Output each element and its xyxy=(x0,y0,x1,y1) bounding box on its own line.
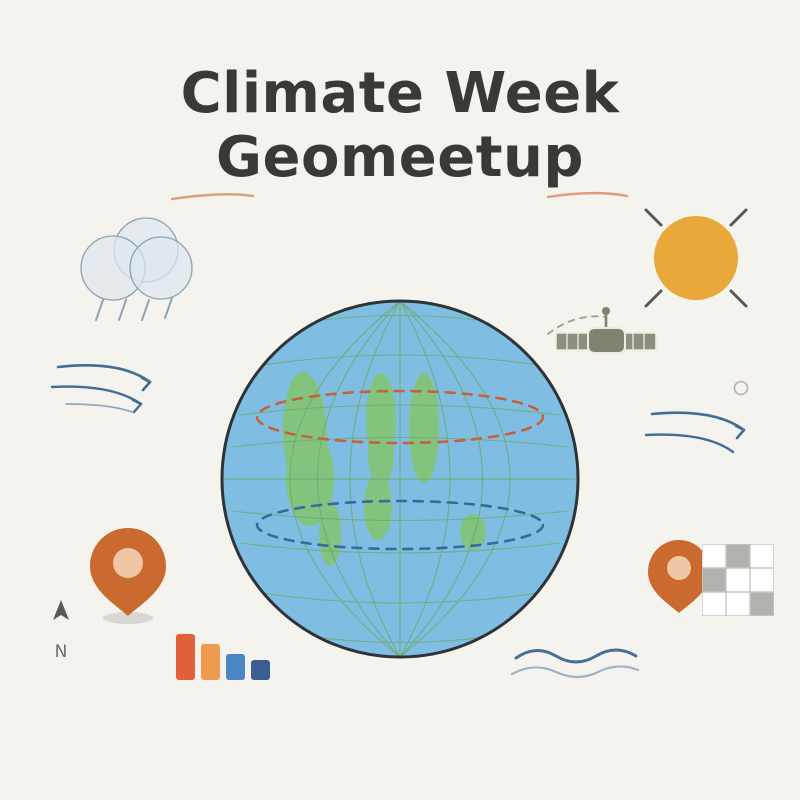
rain-cloud-icon xyxy=(81,218,192,320)
title-underline-right xyxy=(548,193,627,197)
wind-arrows-right-icon xyxy=(646,413,744,452)
bar-1 xyxy=(176,634,195,680)
bar-2 xyxy=(201,644,220,680)
satellite-body xyxy=(588,328,625,353)
bar-3 xyxy=(226,654,245,680)
sun-icon xyxy=(646,210,746,306)
water-waves-icon xyxy=(512,650,638,677)
map-pin-left-icon xyxy=(90,528,166,624)
earth-globe xyxy=(222,301,578,657)
satellite-icon xyxy=(548,307,656,353)
map-pin-right-icon xyxy=(648,540,710,613)
satellite-panel-right xyxy=(622,333,656,350)
satellite-panel-left xyxy=(556,333,590,350)
grid-cell-filled xyxy=(750,592,774,616)
wind-arrows-left-icon xyxy=(52,365,150,412)
grid-cell-filled xyxy=(726,544,750,568)
compass-north-letter: N xyxy=(55,642,68,662)
rain-streaks xyxy=(96,298,172,320)
decorative-circle-icon xyxy=(735,382,748,395)
poster-canvas: Climate Week Geomeetup xyxy=(0,0,800,800)
raster-grid-icon xyxy=(702,544,774,616)
north-compass-icon: N xyxy=(53,600,69,662)
title-underline-left xyxy=(172,194,253,199)
bar-chart xyxy=(176,634,270,680)
grid-cell-filled xyxy=(702,568,726,592)
bar-4 xyxy=(251,660,270,680)
